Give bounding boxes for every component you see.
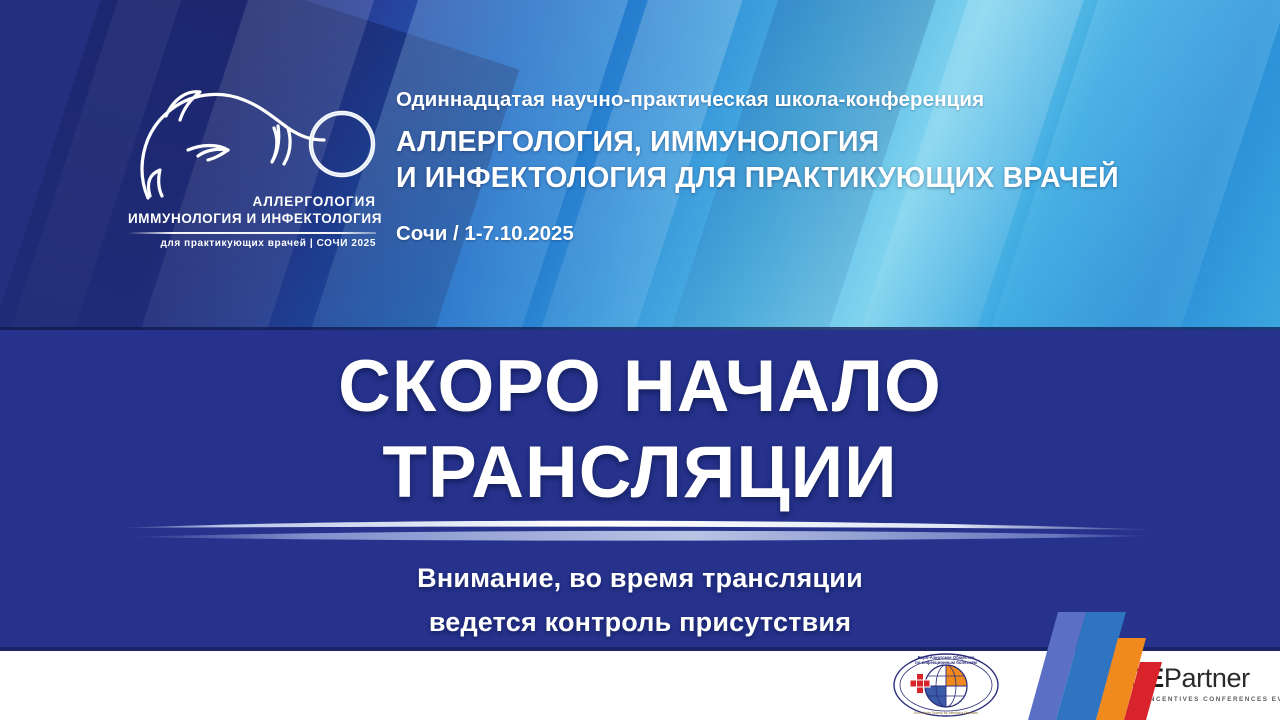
- mice-red-dot-icon: [1121, 664, 1126, 669]
- event-title-line-1: АЛЛЕРГОЛОГИЯ, ИММУНОЛОГИЯ: [396, 125, 1206, 159]
- stream-headline: СКОРО НАЧАЛО ТРАНСЛЯЦИИ: [0, 344, 1280, 516]
- event-kicker: Одиннадцатая научно-практическая школа-к…: [396, 86, 1206, 114]
- swoosh-divider: [118, 516, 1164, 550]
- globe-cross-emblem-icon: Евро-Азиатское Общество по инфекционным …: [892, 652, 1000, 718]
- conference-logo: АЛЛЕРГОЛОГИЯ ИММУНОЛОГИЯ И ИНФЕКТОЛОГИЯ …: [128, 78, 376, 268]
- swoosh-divider-icon: [118, 516, 1164, 550]
- mice-tagline: MEETINGS INCENTIVES CONFERENCES EVENTS: [1098, 696, 1268, 703]
- stream-headline-line-2: ТРАНСЛЯЦИИ: [0, 430, 1280, 516]
- mice-letters-ce: CE: [1127, 663, 1164, 693]
- header-banner: АЛЛЕРГОЛОГИЯ ИММУНОЛОГИЯ И ИНФЕКТОЛОГИЯ …: [0, 0, 1280, 330]
- attendance-notice-line-1: Внимание, во время трансляции: [0, 556, 1280, 600]
- svg-text:по инфекционным болезням: по инфекционным болезням: [915, 660, 977, 665]
- attendance-notice: Внимание, во время трансляции ведется ко…: [0, 556, 1280, 644]
- mice-letter-i: i: [1120, 663, 1127, 693]
- logo-line-2: ИММУНОЛОГИЯ И ИНФЕКТОЛОГИЯ: [128, 210, 376, 227]
- stream-holding-slide: АЛЛЕРГОЛОГИЯ ИММУНОЛОГИЯ И ИНФЕКТОЛОГИЯ …: [0, 0, 1280, 720]
- mice-partner-logo: MiCEPartner MEETINGS INCENTIVES CONFEREN…: [1098, 664, 1268, 704]
- logo-divider-rule: [128, 232, 376, 234]
- mice-letter-m: M: [1098, 663, 1120, 693]
- conference-logo-text: АЛЛЕРГОЛОГИЯ ИММУНОЛОГИЯ И ИНФЕКТОЛОГИЯ …: [128, 194, 376, 249]
- mice-partner-wordmark: MiCEPartner: [1098, 664, 1268, 693]
- logo-line-3: для практикующих врачей | СОЧИ 2025: [128, 238, 376, 249]
- dolphin-ring-icon: [128, 78, 376, 208]
- society-emblem: Евро-Азиатское Общество по инфекционным …: [892, 652, 1000, 718]
- svg-text:Euro-Asian Society for Infecti: Euro-Asian Society for Infectious Diseas…: [914, 711, 978, 715]
- header-text-block: Одиннадцатая научно-практическая школа-к…: [396, 86, 1206, 247]
- logo-line-1: АЛЛЕРГОЛОГИЯ: [128, 194, 376, 210]
- event-title-line-2: И ИНФЕКТОЛОГИЯ ДЛЯ ПРАКТИКУЮЩИХ ВРАЧЕЙ: [396, 161, 1206, 195]
- event-date-location: Сочи / 1-7.10.2025: [396, 221, 1206, 247]
- footer-bar: [0, 651, 1280, 720]
- mice-word-partner: Partner: [1164, 663, 1250, 693]
- attendance-notice-line-2: ведется контроль присутствия: [0, 600, 1280, 644]
- stream-headline-line-1: СКОРО НАЧАЛО: [0, 344, 1280, 430]
